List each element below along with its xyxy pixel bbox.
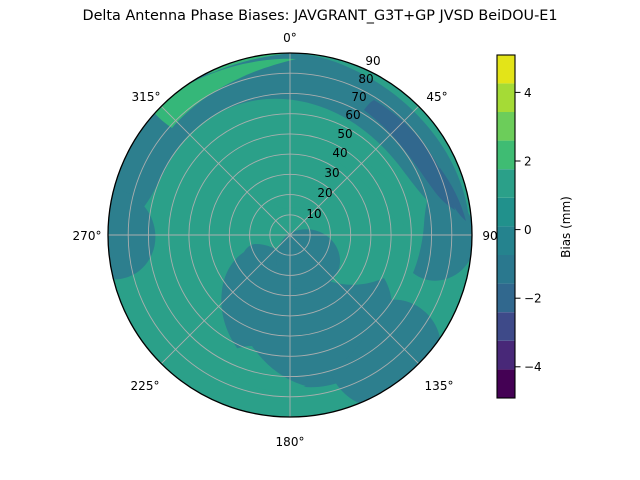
colorbar-band-4 xyxy=(497,255,515,284)
colorbar-band-0 xyxy=(497,369,515,398)
theta-tick-label-90: 90 xyxy=(482,229,497,243)
colorbar-band-10 xyxy=(497,83,515,112)
theta-tick-label-315: 315° xyxy=(132,90,161,104)
colorbar-band-1 xyxy=(497,341,515,370)
colorbar-band-11 xyxy=(497,55,515,83)
theta-tick-label-225: 225° xyxy=(131,379,160,393)
theta-tick-label-135: 135° xyxy=(425,379,454,393)
colorbar-band-6 xyxy=(497,198,515,227)
colorbar-band-2 xyxy=(497,312,515,341)
colorbar-band-7 xyxy=(497,169,515,198)
r-tick-label-20: 20 xyxy=(317,186,332,200)
theta-tick-label-270: 270° xyxy=(73,229,102,243)
colorbar-ticks xyxy=(515,92,521,366)
colorbar-axis-label: Bias (mm) xyxy=(559,196,573,258)
matplotlib-figure: Delta Antenna Phase Biases: JAVGRANT_G3T… xyxy=(0,0,640,480)
r-tick-label-70: 70 xyxy=(351,90,366,104)
theta-tick-label-180: 180° xyxy=(276,435,305,449)
r-tick-label-60: 60 xyxy=(345,108,360,122)
polar-grid-group xyxy=(108,53,472,417)
colorbar-tick-label-2: 2 xyxy=(524,154,532,168)
r-tick-label-50: 50 xyxy=(337,127,352,141)
colorbar-tick-label-neg4: −4 xyxy=(524,360,542,374)
theta-tick-label-45: 45° xyxy=(426,90,447,104)
colorbar-tick-label-neg2: −2 xyxy=(524,292,542,306)
theta-tick-label-0: 0° xyxy=(283,31,297,45)
r-tick-label-40: 40 xyxy=(332,146,347,160)
colorbar-tick-label-4: 4 xyxy=(524,86,532,100)
colorbar-band-8 xyxy=(497,141,515,170)
colorbar-band-9 xyxy=(497,112,515,141)
colorbar: −4 −2 0 2 4 Bias (mm) xyxy=(497,55,573,398)
r-tick-label-30: 30 xyxy=(324,166,339,180)
colorbar-tick-label-0: 0 xyxy=(524,223,532,237)
r-tick-label-80: 80 xyxy=(358,72,373,86)
r-tick-label-10: 10 xyxy=(306,207,321,221)
colorbar-band-5 xyxy=(497,226,515,255)
r-tick-label-90: 90 xyxy=(365,54,380,68)
polar-plot-axes: 10 20 30 40 50 60 70 80 90 0° 45° 90 135… xyxy=(0,0,640,480)
colorbar-band-3 xyxy=(497,284,515,313)
